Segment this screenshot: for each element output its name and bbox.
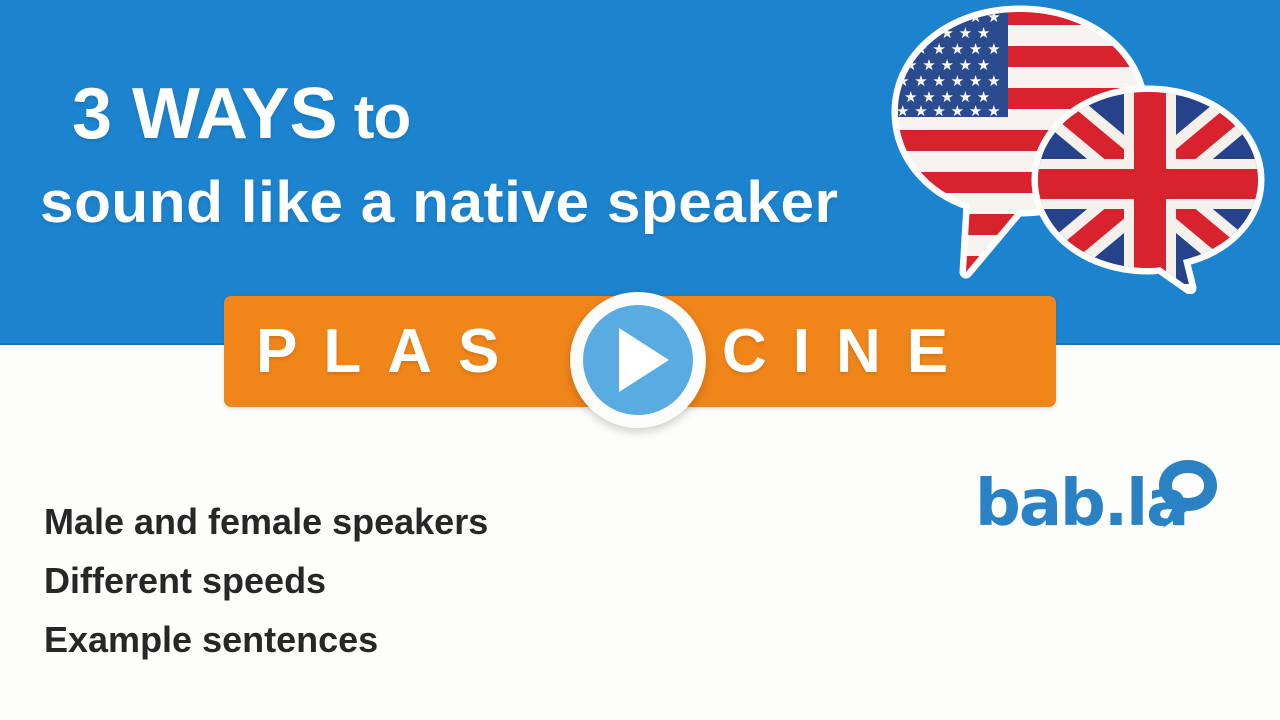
page-title-line2: sound like a native speaker (40, 168, 839, 238)
play-button-disc (583, 305, 693, 415)
flag-bubbles-graphic: ★ ★ ★ ★ ★ ★ ★ ★ ★ ★ ★ ★ ★ ★ ★ ★ ★ ★ ★ ★ … (890, 4, 1270, 294)
list-item: Example sentences (44, 610, 664, 669)
video-thumbnail: 3 WAYS to sound like a native speaker (0, 0, 1280, 720)
banner-word-left: PLAS (256, 296, 525, 407)
title-strong: 3 WAYS (72, 74, 337, 154)
speech-bubble-icon (1157, 458, 1219, 535)
title-small: to (337, 83, 410, 152)
list-item: Different speeds (44, 551, 664, 610)
feature-list: Male and female speakers Different speed… (44, 492, 664, 669)
uk-flag-speech-bubble (1030, 84, 1270, 288)
babla-wordmark: bab.la (975, 470, 1187, 538)
page-title-line1: 3 WAYS to (72, 72, 410, 160)
babla-logo[interactable]: bab.la (975, 458, 1220, 558)
play-button[interactable] (570, 292, 706, 428)
svg-text:★ ★ ★ ★ ★ ★: ★ ★ ★ ★ ★ ★ (896, 102, 1001, 120)
play-icon (619, 328, 669, 392)
list-item: Male and female speakers (44, 492, 664, 551)
banner-word-right: CINE (722, 296, 974, 407)
